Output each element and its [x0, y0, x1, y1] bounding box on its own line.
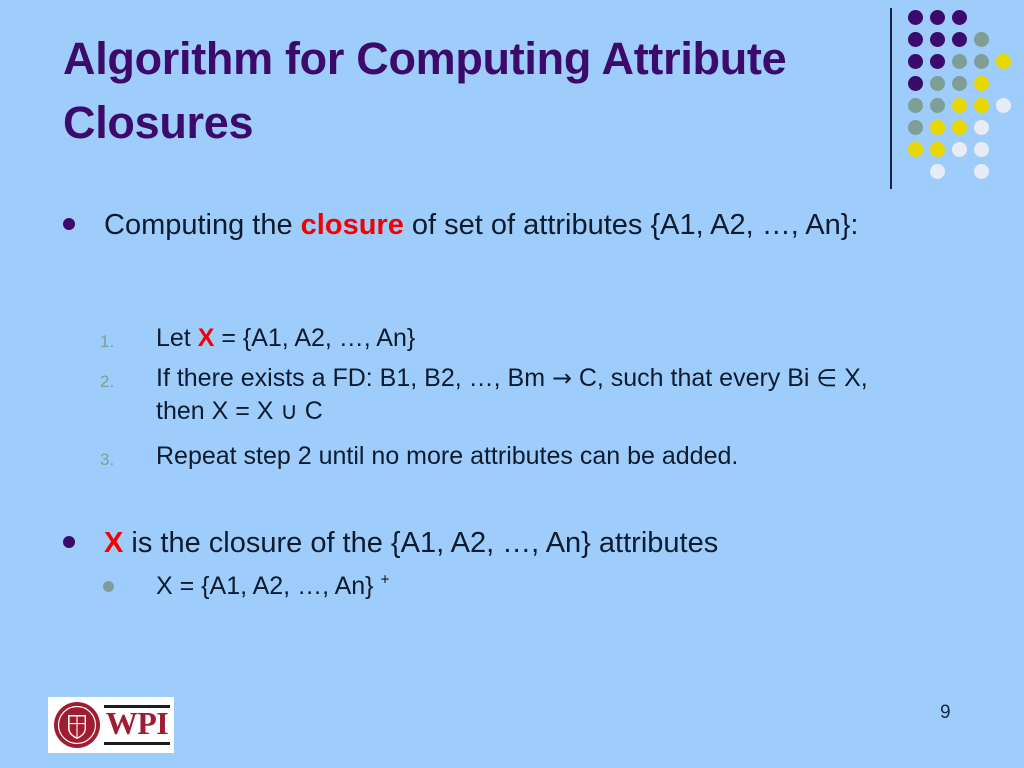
bullet-disc-icon — [63, 218, 75, 230]
slide-body: Computing the closure of set of attribut… — [0, 0, 1024, 768]
emphasis-text: X — [104, 527, 123, 559]
step-item-label: Let X = {A1, A2, …, An} — [156, 322, 920, 355]
emphasis-text: X — [198, 324, 215, 352]
bullet-item-computing-closure: Computing the closure of set of attribut… — [60, 206, 940, 245]
bullet-item-closure-result: X is the closure of the {A1, A2, …, An} … — [60, 524, 940, 563]
page-number: 9 — [940, 702, 980, 724]
wpi-wordmark: WPI — [104, 703, 170, 747]
step-number-marker: 3. — [100, 449, 114, 472]
math-operator: → — [552, 364, 572, 392]
step-item-label: If there exists a FD: B1, B2, …, Bm → C,… — [156, 362, 920, 429]
bullet-item-label: Computing the closure of set of attribut… — [104, 206, 940, 245]
slide: Algorithm for Computing Attribute Closur… — [0, 0, 1024, 768]
step-item-3: 3. Repeat step 2 until no more attribute… — [100, 440, 920, 473]
wpi-logo: WPI — [48, 697, 174, 753]
step-item-2: 2. If there exists a FD: B1, B2, …, Bm →… — [100, 362, 920, 429]
sub-bullet-item-label: X = {A1, A2, …, An} + — [156, 570, 920, 603]
step-item-label: Repeat step 2 until no more attributes c… — [156, 440, 920, 473]
bullet-disc-icon — [63, 536, 75, 548]
wpi-seal-icon — [53, 701, 101, 749]
step-number-marker: 2. — [100, 371, 114, 394]
step-item-1: 1. Let X = {A1, A2, …, An} — [100, 322, 920, 355]
wpi-wordmark-label: WPI — [104, 707, 170, 740]
math-operator: ∪ — [280, 397, 297, 425]
math-operator: ∈ — [816, 364, 837, 392]
wpi-rule-bottom — [104, 742, 170, 745]
emphasis-text: closure — [301, 209, 404, 241]
bullet-item-label: X is the closure of the {A1, A2, …, An} … — [104, 524, 940, 563]
step-number-marker: 1. — [100, 331, 114, 354]
superscript-plus: + — [380, 572, 389, 589]
sub-bullet-disc-icon — [103, 581, 114, 592]
sub-bullet-item-closure-notation: X = {A1, A2, …, An} + — [100, 570, 920, 603]
